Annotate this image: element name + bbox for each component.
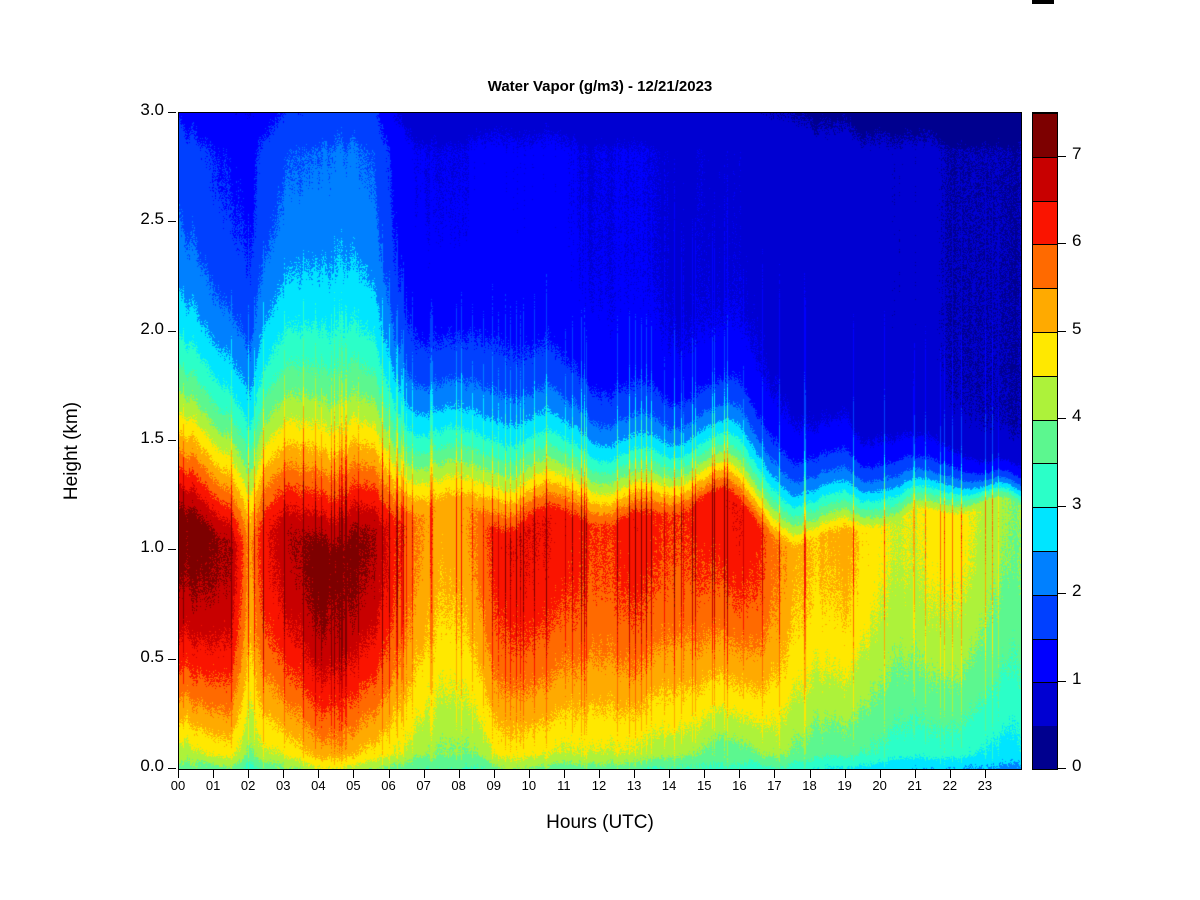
x-tick-label: 18 [790, 778, 830, 793]
x-tick-mark [704, 770, 705, 778]
colorbar-band-3 [1033, 595, 1057, 639]
colorbar-tick-mark [1058, 156, 1066, 157]
colorbar-tick-label: 4 [1072, 406, 1081, 426]
colorbar-band-8 [1033, 376, 1057, 420]
x-tick-mark [950, 770, 951, 778]
x-tick-label: 05 [333, 778, 373, 793]
colorbar [1032, 112, 1058, 770]
colorbar-band-7 [1033, 420, 1057, 464]
colorbar-tick-mark [1058, 331, 1066, 332]
x-tick-mark [599, 770, 600, 778]
colorbar-band-13 [1033, 157, 1057, 201]
x-tick-label: 09 [474, 778, 514, 793]
x-tick-label: 02 [228, 778, 268, 793]
x-tick-mark [564, 770, 565, 778]
x-tick-label: 08 [439, 778, 479, 793]
x-tick-mark [424, 770, 425, 778]
x-tick-mark [774, 770, 775, 778]
y-tick-mark [168, 768, 176, 769]
y-tick-label: 2.5 [104, 209, 164, 229]
chart-title: Water Vapor (g/m3) - 12/21/2023 [0, 78, 1200, 95]
colorbar-band-11 [1033, 244, 1057, 288]
x-tick-label: 16 [719, 778, 759, 793]
x-tick-mark [845, 770, 846, 778]
y-tick-mark [168, 659, 176, 660]
colorbar-band-4 [1033, 551, 1057, 595]
colorbar-band-6 [1033, 463, 1057, 507]
x-axis-title: Hours (UTC) [0, 812, 1200, 834]
y-tick-label: 1.0 [104, 537, 164, 557]
x-tick-mark [283, 770, 284, 778]
colorbar-tick-label: 5 [1072, 319, 1081, 339]
colorbar-band-14 [1033, 113, 1057, 157]
colorbar-tick-label: 3 [1072, 494, 1081, 514]
x-tick-mark [810, 770, 811, 778]
x-tick-mark [985, 770, 986, 778]
colorbar-tick-mark [1058, 418, 1066, 419]
y-axis-title: Height (km) [61, 351, 83, 551]
y-tick-label: 0.5 [104, 647, 164, 667]
water-vapor-heatmap [179, 113, 1021, 769]
colorbar-band-12 [1033, 201, 1057, 245]
y-tick-label: 2.0 [104, 319, 164, 339]
x-tick-mark [459, 770, 460, 778]
x-tick-label: 01 [193, 778, 233, 793]
colorbar-tick-label: 7 [1072, 144, 1081, 164]
colorbar-tick-label: 1 [1072, 669, 1081, 689]
x-tick-label: 00 [158, 778, 198, 793]
x-tick-mark [389, 770, 390, 778]
colorbar-band-2 [1033, 639, 1057, 683]
x-tick-label: 14 [649, 778, 689, 793]
x-tick-label: 19 [825, 778, 865, 793]
y-tick-label: 1.5 [104, 428, 164, 448]
x-tick-label: 07 [404, 778, 444, 793]
x-tick-mark [529, 770, 530, 778]
x-tick-label: 04 [298, 778, 338, 793]
colorbar-tick-mark [1058, 768, 1066, 769]
colorbar-tick-mark [1058, 593, 1066, 594]
colorbar-band-1 [1033, 682, 1057, 726]
heatmap-plot-area [178, 112, 1022, 770]
x-tick-mark [248, 770, 249, 778]
x-tick-label: 21 [895, 778, 935, 793]
x-tick-label: 03 [263, 778, 303, 793]
colorbar-band-10 [1033, 288, 1057, 332]
colorbar-tick-mark [1058, 681, 1066, 682]
colorbar-band-0 [1033, 726, 1057, 769]
y-tick-label: 0.0 [104, 756, 164, 776]
x-tick-mark [178, 770, 179, 778]
x-tick-mark [669, 770, 670, 778]
y-tick-mark [168, 221, 176, 222]
x-tick-label: 22 [930, 778, 970, 793]
y-tick-mark [168, 440, 176, 441]
x-tick-mark [739, 770, 740, 778]
x-tick-mark [318, 770, 319, 778]
colorbar-tick-label: 6 [1072, 231, 1081, 251]
x-tick-mark [634, 770, 635, 778]
y-tick-mark [168, 549, 176, 550]
x-tick-mark [494, 770, 495, 778]
colorbar-tick-label: 0 [1072, 756, 1081, 776]
y-tick-mark [168, 331, 176, 332]
colorbar-band-5 [1033, 507, 1057, 551]
x-tick-label: 15 [684, 778, 724, 793]
x-tick-label: 11 [544, 778, 584, 793]
colorbar-tick-mark [1058, 243, 1066, 244]
x-tick-mark [880, 770, 881, 778]
x-tick-label: 13 [614, 778, 654, 793]
colorbar-tick-mark [1058, 506, 1066, 507]
x-tick-mark [213, 770, 214, 778]
x-tick-label: 10 [509, 778, 549, 793]
x-tick-label: 20 [860, 778, 900, 793]
x-tick-label: 23 [965, 778, 1005, 793]
x-tick-mark [353, 770, 354, 778]
x-tick-label: 12 [579, 778, 619, 793]
colorbar-band-9 [1033, 332, 1057, 376]
y-tick-label: 3.0 [104, 100, 164, 120]
x-tick-label: 17 [754, 778, 794, 793]
colorbar-tick-label: 2 [1072, 581, 1081, 601]
y-tick-mark [168, 112, 176, 113]
top-edge-artifact [1032, 0, 1054, 4]
x-tick-label: 06 [369, 778, 409, 793]
x-tick-mark [915, 770, 916, 778]
